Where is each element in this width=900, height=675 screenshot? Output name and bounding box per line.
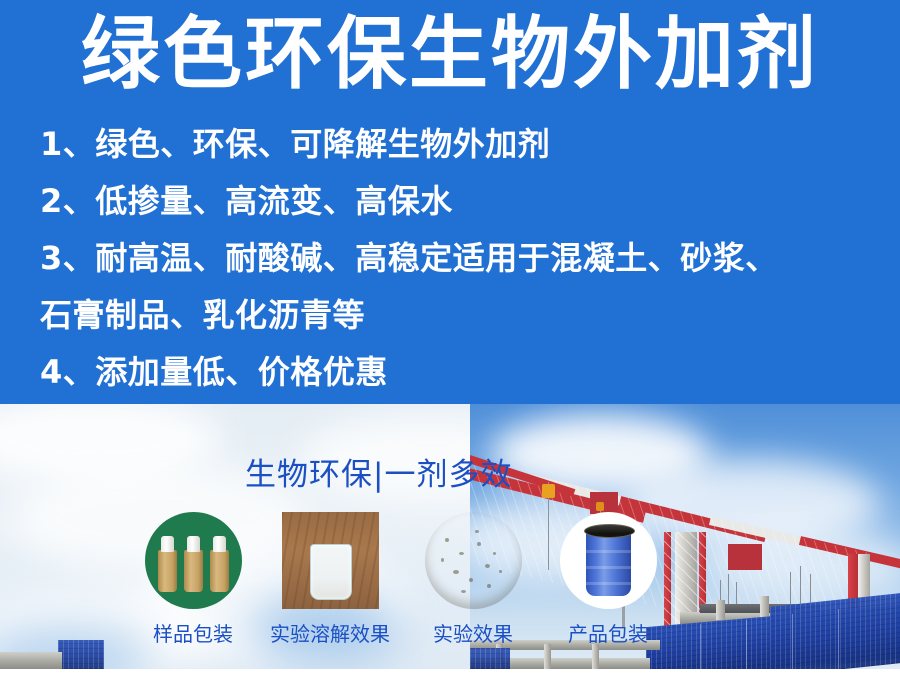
thumbnail-sample-bottles <box>145 512 242 609</box>
grain-speck <box>475 530 479 533</box>
drum-rib <box>586 566 631 569</box>
wooden-table-background <box>282 512 379 609</box>
grain-speck <box>485 564 490 568</box>
blue-info-panel: 绿色环保生物外加剂 1、绿色、环保、可降解生物外加剂 2、低掺量、高流变、高保水… <box>0 0 900 404</box>
drum-lid <box>584 524 635 538</box>
thumbnail-mortar-sample <box>425 512 522 609</box>
safety-netting <box>770 593 900 669</box>
thumbnail-dissolution-beaker <box>282 512 379 609</box>
thumbnail-caption-dissolution: 实验溶解效果 <box>250 622 410 647</box>
grain-speck <box>453 570 459 574</box>
crane-counterweight <box>728 544 762 570</box>
feature-line-3-continued: 石膏制品、乳化沥青等 <box>40 287 870 344</box>
grain-speck <box>461 590 466 593</box>
grain-speck <box>499 570 502 573</box>
sample-bottle <box>184 550 203 592</box>
scaffold-pole <box>746 620 747 669</box>
scaffold-pole <box>838 609 839 669</box>
drum-rib <box>586 550 631 553</box>
glass-beaker <box>310 544 352 600</box>
feature-line-4: 4、添加量低、价格优惠 <box>40 344 870 401</box>
grain-speck <box>469 578 473 582</box>
scaffold-pole <box>792 614 793 669</box>
crane-hook-block <box>596 502 604 511</box>
crane-hook-block <box>542 484 555 498</box>
thumbnail-caption-product-packaging: 产品包装 <box>528 622 688 647</box>
grain-speck <box>487 584 491 588</box>
bottle-cap <box>161 536 174 552</box>
tagline: 生物环保|一剂多效 <box>245 457 512 493</box>
sample-bottle <box>158 550 177 592</box>
safety-netting <box>58 640 104 669</box>
concrete-block <box>0 652 62 669</box>
concrete-column <box>544 644 551 669</box>
safety-netting <box>470 648 510 669</box>
bottom-white-strip <box>0 669 900 675</box>
bottle-cap <box>213 536 226 552</box>
feature-line-1: 1、绿色、环保、可降解生物外加剂 <box>40 116 870 173</box>
grain-speck <box>441 558 444 562</box>
bottle-cap <box>187 536 200 552</box>
crane-counterweight <box>590 492 618 514</box>
thumbnail-product-drum <box>560 512 657 609</box>
page-title: 绿色环保生物外加剂 <box>0 8 900 100</box>
thumbnail-caption-sample-packaging: 样品包装 <box>113 622 273 647</box>
blue-plastic-drum <box>586 528 631 596</box>
feature-line-2: 2、低掺量、高流变、高保水 <box>40 173 870 230</box>
grain-speck <box>477 542 481 546</box>
concrete-column <box>592 644 599 669</box>
feature-list: 1、绿色、环保、可降解生物外加剂 2、低掺量、高流变、高保水 3、耐高温、耐酸碱… <box>40 116 870 401</box>
product-poster: 绿色环保生物外加剂 1、绿色、环保、可降解生物外加剂 2、低掺量、高流变、高保水… <box>0 0 900 675</box>
grain-speck <box>445 538 449 542</box>
grain-speck <box>493 552 496 555</box>
drum-rib <box>586 582 631 585</box>
scaffold-pole <box>700 624 701 669</box>
green-disc-background <box>145 512 242 609</box>
grain-speck <box>459 552 464 555</box>
feature-line-3: 3、耐高温、耐酸碱、高稳定适用于混凝土、砂浆、 <box>40 230 870 287</box>
white-disc-background <box>560 512 657 609</box>
sample-bottle <box>210 550 229 592</box>
mortar-disc <box>425 512 522 609</box>
concrete-column <box>716 600 725 620</box>
